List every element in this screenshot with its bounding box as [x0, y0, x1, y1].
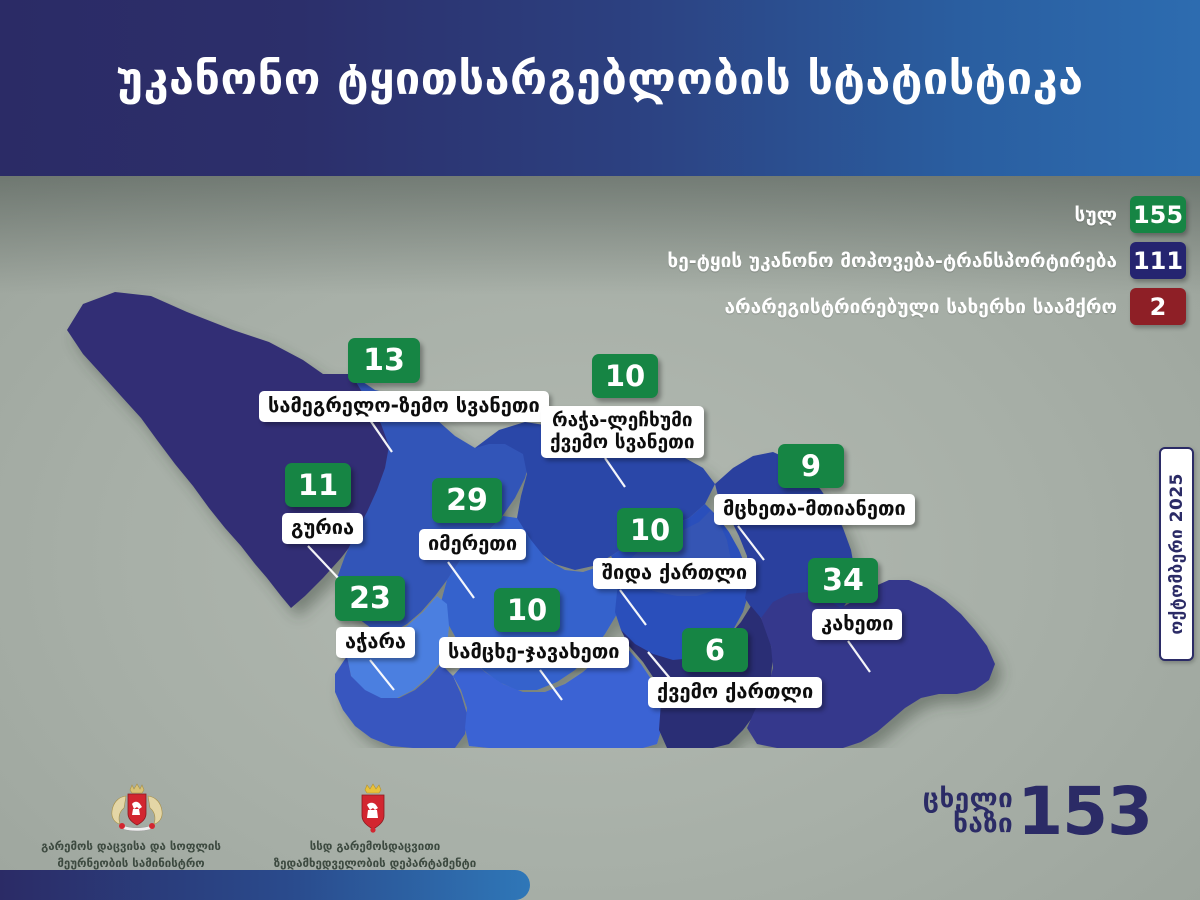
badge-guria: 11 — [285, 463, 351, 507]
ministry-emblem-icon — [106, 782, 168, 838]
date-tab: ოქტომბერი 2025 — [1159, 447, 1194, 661]
date-tab-label: ოქტომბერი 2025 — [1167, 473, 1187, 635]
badge-mtskheta-mtianeti: 9 — [778, 444, 844, 488]
ministry-name-line2: მეურნეობის სამინისტრო — [20, 855, 242, 872]
ministry-name-line1: გარემოს დაცვისა და სოფლის — [20, 838, 242, 855]
legend-badge-total: 155 — [1130, 196, 1186, 233]
department-name: სსდ გარემოსდაცვითი ზედამხედველობის დეპარ… — [272, 838, 478, 871]
label-shida-kartli: შიდა ქართლი — [593, 558, 756, 589]
badge-kvemo-kartli: 6 — [682, 628, 748, 672]
legend-badge-sawmill: 2 — [1130, 288, 1186, 325]
label-racha-line2: ქვემო სვანეთი — [550, 431, 695, 453]
hotline-label-line2: ხაზი — [923, 812, 1013, 837]
label-kvemo-kartli: ქვემო ქართლი — [648, 677, 822, 708]
department-name-line1: სსდ გარემოსდაცვითი — [272, 838, 478, 855]
legend-item-total: სულ 155 — [667, 196, 1186, 233]
legend-label-sawmill: არარეგისტრირებული სახერხი საამქრო — [725, 296, 1118, 318]
label-kakheti: კახეთი — [812, 609, 902, 640]
header-bar: უკანონო ტყითსარგებლობის სტატისტიკა — [0, 0, 1200, 176]
label-adjara: აჭარა — [336, 627, 415, 658]
badge-samegrelo: 13 — [348, 338, 420, 383]
hotline-label: ცხელი ხაზი — [923, 787, 1013, 838]
label-samegrelo: სამეგრელო-ზემო სვანეთი — [259, 391, 549, 422]
legend-item-logging: ხე-ტყის უკანონო მოპოვება-ტრანსპორტირება … — [667, 242, 1186, 279]
region-kakheti — [747, 580, 995, 748]
legend-label-total: სულ — [1075, 204, 1117, 226]
badge-imereti: 29 — [432, 478, 502, 523]
label-mtskheta-mtianeti: მცხეთა-მთიანეთი — [714, 494, 915, 525]
hotline: ცხელი ხაზი 153 — [923, 785, 1152, 839]
legend-item-sawmill: არარეგისტრირებული სახერხი საამქრო 2 — [667, 288, 1186, 325]
legend-label-logging: ხე-ტყის უკანონო მოპოვება-ტრანსპორტირება — [667, 250, 1117, 272]
department-emblem-icon — [352, 782, 394, 838]
label-racha-lechkhumi: რაჭა-ლეჩხუმი ქვემო სვანეთი — [541, 406, 704, 458]
legend-badge-logging: 111 — [1130, 242, 1186, 279]
department-name-line2: ზედამხედველობის დეპარტამენტი — [272, 855, 478, 872]
page-title: უკანონო ტყითსარგებლობის სტატისტიკა — [0, 52, 1200, 105]
ministry-name: გარემოს დაცვისა და სოფლის მეურნეობის სამ… — [20, 838, 242, 871]
infographic-root: უკანონო ტყითსარგებლობის სტატისტიკა სულ 1… — [0, 0, 1200, 900]
hotline-number: 153 — [1017, 785, 1152, 839]
badge-shida-kartli: 10 — [617, 508, 683, 552]
badge-adjara: 23 — [335, 576, 405, 621]
label-imereti: იმერეთი — [419, 529, 526, 560]
legend: სულ 155 ხე-ტყის უკანონო მოპოვება-ტრანსპო… — [667, 196, 1186, 334]
label-racha-line1: რაჭა-ლეჩხუმი — [550, 409, 695, 431]
bottom-accent-bar — [0, 870, 530, 900]
badge-samtskhe-javakheti: 10 — [494, 588, 560, 632]
badge-racha-lechkhumi: 10 — [592, 354, 658, 398]
label-samtskhe-javakheti: სამცხე-ჯავახეთი — [439, 637, 629, 668]
badge-kakheti: 34 — [808, 558, 878, 603]
label-guria: გურია — [282, 513, 363, 544]
